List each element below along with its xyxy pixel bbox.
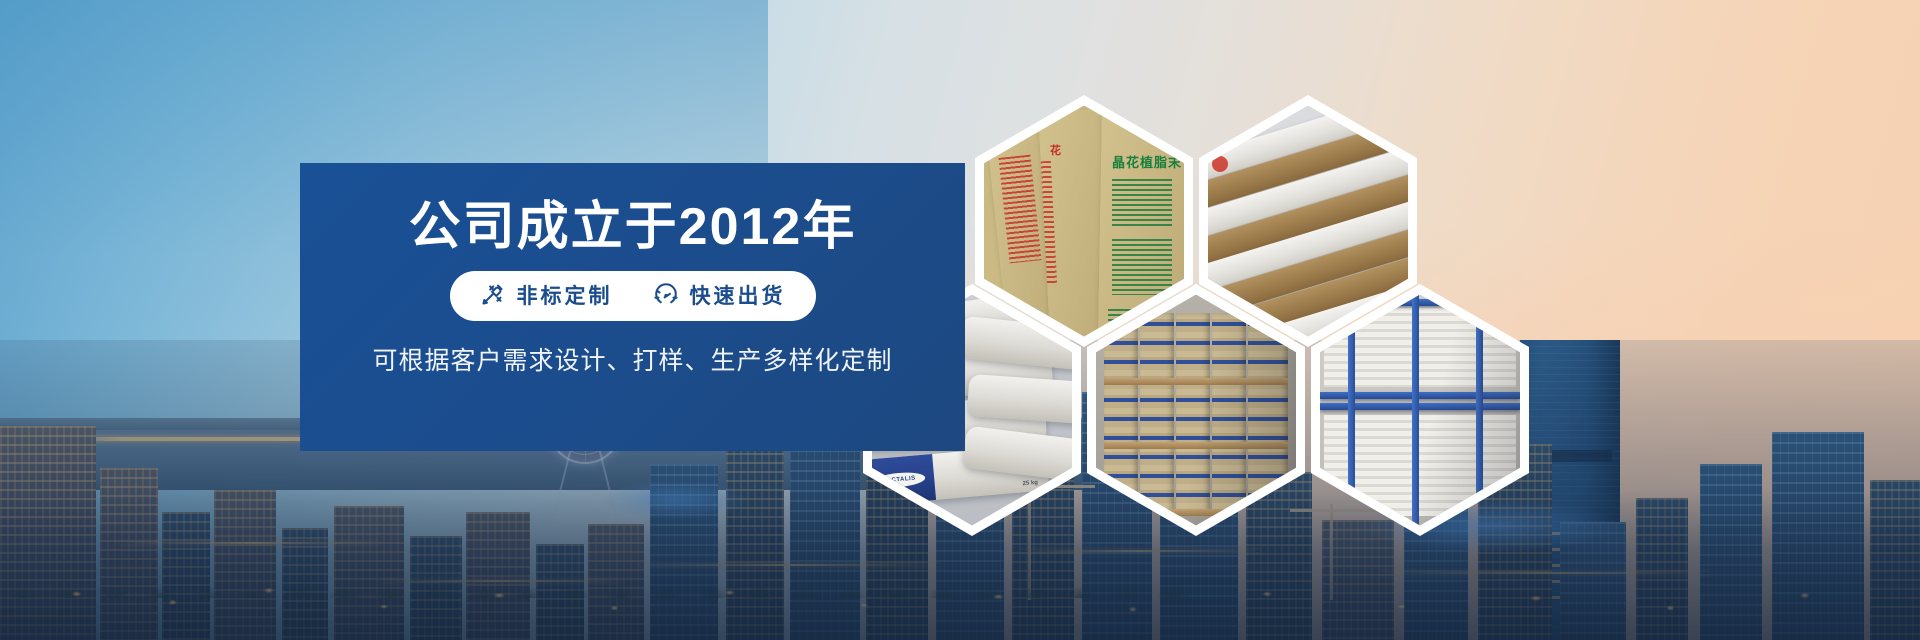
custom-pen-icon <box>480 281 506 312</box>
pallet-stack-photo <box>1096 295 1296 526</box>
feature-pill: 非标定制 快速出货 <box>450 271 816 321</box>
speed-gauge-icon <box>653 281 679 312</box>
warehouse-rack-photo <box>1320 295 1520 526</box>
feature-fast-shipping[interactable]: 快速出货 <box>653 281 786 312</box>
product-hexagon-collage: 晶花植脂末 花 <box>975 95 1675 525</box>
kraft-bag-photo: 晶花植脂末 花 <box>984 106 1184 337</box>
feature-custom-manufacturing[interactable]: 非标定制 <box>480 281 613 312</box>
folded-sacks-photo <box>1208 106 1408 337</box>
street-lamps <box>0 552 1920 622</box>
hero-banner: IFS <box>0 0 1920 640</box>
feature-label: 非标定制 <box>517 286 613 307</box>
feature-label: 快速出货 <box>690 286 786 307</box>
headline-panel: 公司成立于2012年 非标定制 <box>300 163 965 451</box>
venue-blue-glow <box>600 480 750 520</box>
page-title: 公司成立于2012年 <box>300 201 965 253</box>
panel-subtitle: 可根据客户需求设计、打样、生产多样化定制 <box>300 349 965 374</box>
sack-weight: 25 kg <box>1022 479 1038 486</box>
